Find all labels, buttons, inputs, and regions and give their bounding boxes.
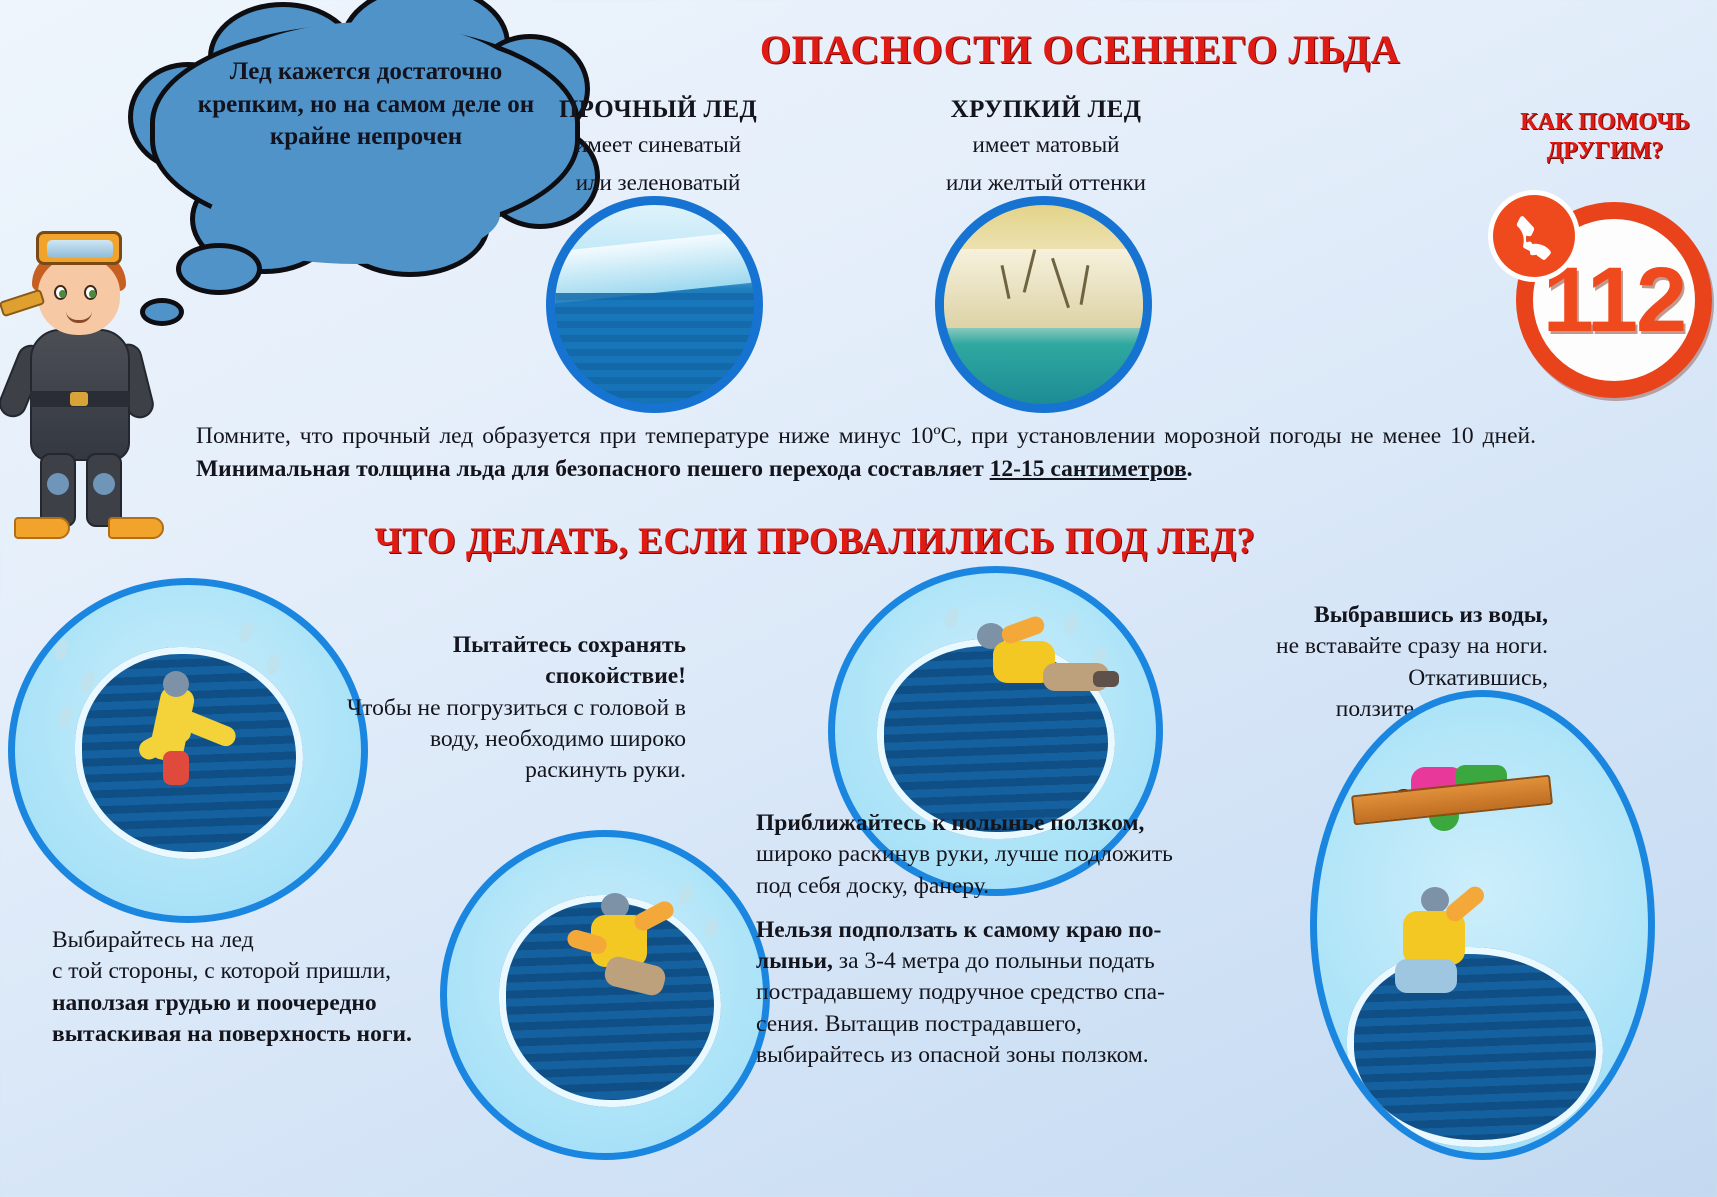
bubble-tail-small	[140, 298, 184, 326]
advice4-line4: пострадавшему подручное средство спа-	[756, 979, 1165, 1005]
strong-ice-line1: имеет синеватый	[540, 129, 776, 162]
advice4-bold-line1: Приближайтесь к полынье ползком,	[756, 810, 1144, 836]
footprint-icon	[56, 704, 75, 729]
advice1-bold-line2: спокойствие!	[545, 663, 686, 689]
advice4-line1: широко раскинув руки, лучше подложить	[756, 841, 1173, 867]
person-figure	[971, 615, 1121, 735]
advice4-bold-line3: лыньи,	[756, 948, 833, 974]
bubble-tail-large	[176, 243, 262, 295]
person-figure	[567, 893, 717, 1043]
victim-figure	[1369, 887, 1539, 1057]
advice1-line1: Чтобы не погрузиться с головой в	[246, 693, 686, 724]
diver-fin-right	[108, 517, 164, 539]
ice-crack	[1051, 258, 1070, 308]
advice1-line2: воду, необходимо широко	[246, 724, 686, 755]
advice1-line3: раскинуть руки.	[246, 755, 686, 786]
ice-crack	[1080, 265, 1090, 305]
diver-eye-left	[54, 285, 67, 300]
remember-text-bold: Минимальная толщина льда для безопасного…	[196, 456, 990, 482]
diver-fin-left	[14, 517, 70, 539]
advice-approach-crawling: Приближайтесь к полынье ползком, широко …	[756, 808, 1296, 1084]
brittle-ice-heading: ХРУПКИЙ ЛЕД имеет матовый или желтый отт…	[928, 96, 1164, 199]
diver-knee-pad-right	[93, 473, 115, 495]
emergency-number-badge: 112	[1488, 190, 1717, 415]
victim-hat	[1421, 887, 1449, 913]
help-title-line1: КАК ПОМОЧЬ	[1490, 108, 1717, 137]
advice-climb-out: Выбирайтесь на лед с той стороны, с кото…	[52, 925, 512, 1050]
bubble-fill	[210, 164, 500, 264]
section-title: ЧТО ДЕЛАТЬ, ЕСЛИ ПРОВАЛИЛИСЬ ПОД ЛЕД?	[300, 520, 1330, 563]
help-others-title: КАК ПОМОЧЬ ДРУГИМ?	[1490, 108, 1717, 166]
strong-ice-photo	[546, 196, 763, 413]
advice3-line2: с той стороны, с которой пришли,	[52, 956, 512, 987]
footprint-icon	[52, 638, 71, 663]
advice4-line5: сения. Вытащив пострадавшего,	[756, 1011, 1082, 1037]
advice1-bold-line1: Пытайтесь сохранять	[453, 632, 686, 658]
rescue-with-board-and-rope	[1310, 690, 1655, 1160]
diver-eye-right	[84, 285, 97, 300]
diver-goggles-icon	[36, 231, 122, 265]
brittle-ice-title: ХРУПКИЙ ЛЕД	[928, 96, 1164, 124]
remember-paragraph: Помните, что прочный лед образуется при …	[196, 420, 1536, 486]
victim-arm	[1442, 883, 1487, 925]
brittle-ice-photo	[935, 196, 1152, 413]
advice3-line1: Выбирайтесь на лед	[52, 925, 512, 956]
footprint-icon	[942, 606, 961, 631]
person-hat	[163, 671, 189, 697]
person-body-lower	[163, 751, 189, 785]
brittle-ice-line2: или желтый оттенки	[928, 167, 1164, 200]
strong-ice-title: ПРОЧНЫЙ ЛЕД	[540, 96, 776, 124]
advice4-line3: за 3-4 метра до полыньи подать	[833, 948, 1155, 974]
person-boot	[1093, 671, 1119, 687]
bubble-text: Лед кажется достаточно крепким, но на са…	[174, 56, 558, 154]
diver-head	[38, 257, 120, 335]
advice2-bold-line1: Выбравшись из воды,	[1314, 602, 1548, 628]
remember-text-underlined: 12-15 сантиметров	[990, 456, 1187, 482]
person-arm-right	[631, 898, 677, 934]
advice4-bold-line2: Нельзя подползать к самому краю по-	[756, 917, 1161, 943]
advice4-para2: Нельзя подползать к самому краю по- лынь…	[756, 915, 1296, 1071]
advice4-line2: под себя доску, фанеру.	[756, 873, 989, 899]
advice3-bold-line1: наползая грудью и поочередно	[52, 990, 377, 1016]
diver-belt-buckle	[70, 392, 88, 406]
page-title: ОПАСНОСТИ ОСЕННЕГО ЛЬДА	[660, 26, 1500, 73]
brittle-ice-line1: имеет матовый	[928, 129, 1164, 162]
person-figure	[133, 677, 253, 807]
phone-handset-icon	[1488, 190, 1580, 282]
advice3-bold-line2: вытаскивая на поверхность ноги.	[52, 1021, 412, 1047]
person-legs	[602, 954, 667, 998]
advice4-para1: Приближайтесь к полынье ползком, широко …	[756, 808, 1296, 902]
diver-knee-pad-left	[47, 473, 69, 495]
remember-text-part1: Помните, что прочный лед образуется при …	[196, 423, 1536, 449]
remember-text-end: .	[1187, 456, 1193, 482]
advice-stay-calm: Пытайтесь сохранять спокойствие! Чтобы н…	[246, 630, 686, 786]
advice2-line1: не вставайте сразу на ноги.	[1118, 631, 1548, 662]
advice4-line6: выбирайтесь из опасной зоны ползком.	[756, 1042, 1149, 1068]
help-title-line2: ДРУГИМ?	[1490, 137, 1717, 166]
diver-snorkel-icon	[0, 289, 45, 318]
ice-crack	[1000, 265, 1010, 299]
person-arm-right	[177, 709, 238, 749]
ice-crack	[1022, 249, 1036, 292]
victim-legs	[1395, 959, 1457, 993]
